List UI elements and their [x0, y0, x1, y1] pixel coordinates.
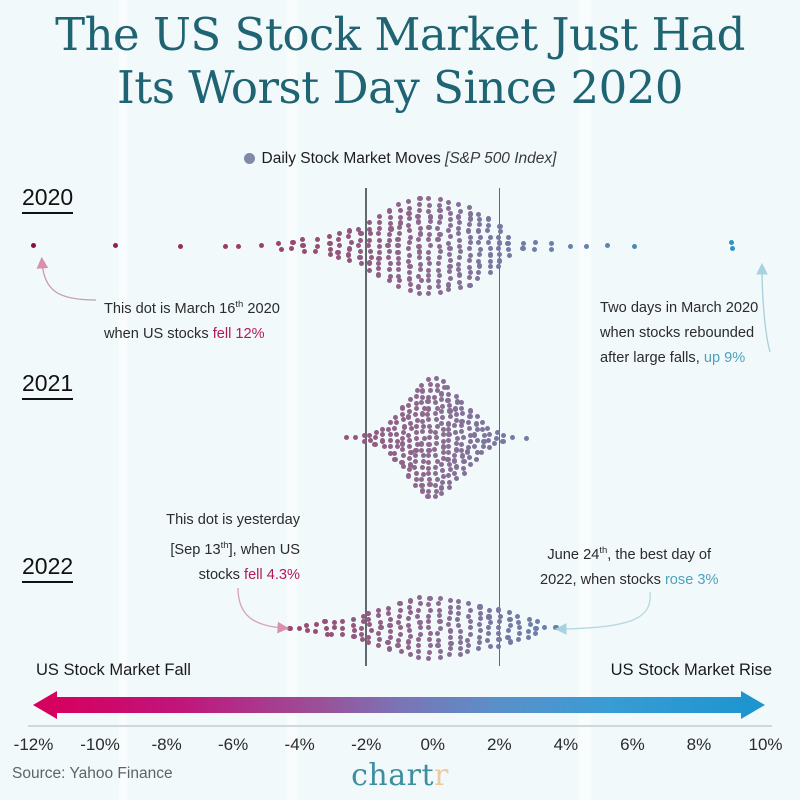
- data-point: [480, 420, 485, 425]
- data-point: [454, 441, 459, 446]
- data-point: [427, 477, 432, 482]
- title-line-2: Its Worst Day Since 2020: [0, 61, 800, 114]
- data-point: [467, 283, 472, 288]
- data-point: [407, 276, 412, 281]
- data-point: [315, 237, 320, 242]
- data-point: [407, 240, 412, 245]
- data-point: [385, 640, 390, 645]
- data-point: [426, 278, 431, 283]
- data-point: [437, 273, 442, 278]
- data-point: [553, 625, 558, 630]
- data-point: [458, 249, 463, 254]
- data-point: [415, 214, 420, 219]
- data-point: [533, 240, 538, 245]
- data-point: [459, 429, 464, 434]
- data-point: [407, 438, 412, 443]
- data-point: [428, 214, 433, 219]
- data-point: [448, 211, 453, 216]
- data-point: [417, 202, 422, 207]
- data-point: [414, 394, 419, 399]
- data-point: [446, 622, 451, 627]
- data-point: [408, 235, 413, 240]
- data-point: [409, 426, 414, 431]
- data-point: [376, 608, 381, 613]
- data-point: [223, 244, 228, 249]
- data-point: [351, 634, 356, 639]
- data-point: [455, 399, 460, 404]
- data-point: [426, 250, 431, 255]
- data-point: [447, 480, 452, 485]
- data-point: [428, 608, 433, 613]
- data-point: [413, 483, 418, 488]
- data-point: [416, 284, 421, 289]
- data-point: [376, 266, 381, 271]
- data-point: [467, 426, 472, 431]
- data-point: [447, 246, 452, 251]
- data-point: [437, 220, 442, 225]
- data-point: [408, 610, 413, 615]
- data-point: [438, 290, 443, 295]
- data-point: [406, 259, 411, 264]
- data-point: [478, 616, 483, 621]
- data-point: [454, 394, 459, 399]
- data-point: [388, 261, 393, 266]
- data-point: [468, 433, 473, 438]
- data-point: [433, 465, 438, 470]
- annotation-sep-13-2022: This dot is yesterday [Sep 13th], when U…: [152, 508, 300, 588]
- data-point: [426, 619, 431, 624]
- data-point: [313, 249, 318, 254]
- data-point: [480, 427, 485, 432]
- data-point: [337, 243, 342, 248]
- data-point: [426, 417, 431, 422]
- data-point: [452, 458, 457, 463]
- data-point: [446, 241, 451, 246]
- data-point: [448, 641, 453, 646]
- data-point: [327, 234, 332, 239]
- data-point: [314, 622, 319, 627]
- data-point: [352, 628, 357, 633]
- data-point: [437, 244, 442, 249]
- data-point: [439, 485, 444, 490]
- data-point: [441, 456, 446, 461]
- data-point: [401, 430, 406, 435]
- data-point: [397, 225, 402, 230]
- legend: Daily Stock Market Moves [S&P 500 Index]: [0, 150, 800, 168]
- data-point: [376, 643, 381, 648]
- data-point: [359, 632, 364, 637]
- arrow-head-right-icon: [741, 691, 765, 719]
- data-point: [487, 608, 492, 613]
- data-point: [426, 471, 431, 476]
- data-point: [356, 227, 361, 232]
- data-point: [397, 278, 402, 283]
- data-point: [445, 457, 450, 462]
- data-point: [439, 391, 444, 396]
- data-point: [506, 628, 511, 633]
- data-point: [359, 261, 364, 266]
- data-point: [533, 631, 538, 636]
- data-point: [448, 646, 453, 651]
- data-point: [398, 632, 403, 637]
- data-point: [397, 231, 402, 236]
- data-point: [414, 430, 419, 435]
- data-point: [436, 268, 441, 273]
- data-point: [324, 626, 329, 631]
- data-point: [406, 414, 411, 419]
- data-point: [388, 215, 393, 220]
- data-point: [395, 237, 400, 242]
- data-point: [367, 238, 372, 243]
- data-point: [398, 608, 403, 613]
- data-point: [459, 419, 464, 424]
- data-point: [486, 438, 491, 443]
- data-point: [468, 608, 473, 613]
- data-point: [392, 426, 397, 431]
- data-point: [478, 611, 483, 616]
- data-point: [476, 259, 481, 264]
- data-point: [417, 595, 422, 600]
- data-point: [416, 649, 421, 654]
- data-point: [437, 232, 442, 237]
- data-point: [447, 403, 452, 408]
- data-point: [441, 379, 446, 384]
- data-point: [388, 635, 393, 640]
- data-point: [313, 629, 318, 634]
- data-point: [458, 285, 463, 290]
- data-point: [236, 244, 241, 249]
- data-point: [414, 477, 419, 482]
- data-point: [380, 432, 385, 437]
- data-point: [481, 439, 486, 444]
- data-point: [477, 622, 482, 627]
- data-point: [433, 400, 438, 405]
- data-point: [388, 629, 393, 634]
- data-point: [481, 444, 486, 449]
- data-point: [457, 280, 462, 285]
- data-point: [441, 474, 446, 479]
- data-point: [356, 243, 361, 248]
- data-point: [351, 623, 356, 628]
- data-point: [475, 427, 480, 432]
- data-point: [459, 442, 464, 447]
- data-point: [394, 420, 399, 425]
- data-point: [425, 412, 430, 417]
- data-point: [467, 246, 472, 251]
- data-point: [439, 409, 444, 414]
- data-point: [521, 241, 526, 246]
- data-point: [406, 199, 411, 204]
- data-point: [462, 471, 467, 476]
- axis-tick-minus4: -4%: [285, 735, 315, 755]
- data-point: [477, 217, 482, 222]
- data-point: [419, 278, 424, 283]
- data-point: [401, 464, 406, 469]
- data-point: [448, 414, 453, 419]
- data-point: [300, 237, 305, 242]
- axis-tick-0: 0%: [420, 735, 445, 755]
- data-point: [426, 377, 431, 382]
- data-point: [397, 614, 402, 619]
- data-point: [413, 448, 418, 453]
- data-point: [455, 617, 460, 622]
- data-point: [441, 439, 446, 444]
- data-point: [400, 447, 405, 452]
- data-point: [305, 628, 310, 633]
- data-point: [346, 252, 351, 257]
- data-point: [459, 406, 464, 411]
- data-point: [420, 465, 425, 470]
- arrow-march16: [42, 262, 96, 300]
- data-point: [437, 608, 442, 613]
- data-point: [456, 623, 461, 628]
- data-point: [488, 644, 493, 649]
- data-point: [329, 632, 334, 637]
- logo-accent: r: [434, 758, 449, 793]
- data-point: [459, 400, 464, 405]
- data-point: [632, 244, 637, 249]
- data-point: [428, 219, 433, 224]
- data-point: [406, 246, 411, 251]
- data-point: [426, 196, 431, 201]
- data-point: [455, 436, 460, 441]
- data-point: [388, 420, 393, 425]
- data-point: [426, 237, 431, 242]
- data-point: [433, 453, 438, 458]
- data-point: [438, 626, 443, 631]
- data-point: [418, 262, 423, 267]
- data-point: [434, 417, 439, 422]
- data-point: [434, 376, 439, 381]
- data-point: [360, 637, 365, 642]
- data-point: [477, 263, 482, 268]
- data-point: [454, 464, 459, 469]
- data-point: [456, 267, 461, 272]
- data-point: [457, 244, 462, 249]
- data-point: [501, 433, 506, 438]
- data-point: [457, 220, 462, 225]
- data-point: [300, 243, 305, 248]
- data-point: [448, 605, 453, 610]
- data-point: [315, 244, 320, 249]
- data-point: [468, 235, 473, 240]
- data-point: [468, 619, 473, 624]
- data-point: [467, 455, 472, 460]
- data-point: [487, 432, 492, 437]
- data-point: [438, 249, 443, 254]
- data-point: [416, 637, 421, 642]
- data-point: [468, 439, 473, 444]
- data-point: [407, 206, 412, 211]
- data-point: [376, 613, 381, 618]
- data-point: [454, 412, 459, 417]
- gradient-bar: [55, 697, 743, 713]
- data-point: [367, 433, 372, 438]
- data-point: [448, 628, 453, 633]
- data-point: [426, 460, 431, 465]
- data-point: [408, 598, 413, 603]
- axis-tick-4: 4%: [554, 735, 579, 755]
- data-point: [549, 247, 554, 252]
- title-line-1: The US Stock Market Just Had: [55, 8, 745, 61]
- data-point: [395, 444, 400, 449]
- legend-index-label: [S&P 500 Index]: [445, 150, 556, 167]
- data-point: [400, 436, 405, 441]
- data-point: [417, 255, 422, 260]
- data-point: [407, 444, 412, 449]
- data-point: [388, 226, 393, 231]
- data-point: [340, 632, 345, 637]
- data-point: [374, 430, 379, 435]
- data-point: [458, 629, 463, 634]
- data-point: [532, 247, 537, 252]
- data-point: [414, 471, 419, 476]
- data-point: [386, 427, 391, 432]
- data-point: [468, 462, 473, 467]
- data-point: [435, 406, 440, 411]
- data-point: [439, 491, 444, 496]
- data-point: [426, 614, 431, 619]
- data-point: [468, 253, 473, 258]
- data-point: [460, 453, 465, 458]
- data-point: [349, 240, 354, 245]
- data-point: [402, 424, 407, 429]
- data-point: [459, 423, 464, 428]
- data-point: [446, 421, 451, 426]
- data-point: [418, 267, 423, 272]
- data-point: [526, 629, 531, 634]
- data-point: [465, 449, 470, 454]
- data-point: [407, 264, 412, 269]
- data-point: [420, 429, 425, 434]
- data-point: [340, 626, 345, 631]
- data-point: [406, 645, 411, 650]
- data-point: [397, 601, 402, 606]
- data-point: [359, 626, 364, 631]
- data-point: [421, 453, 426, 458]
- data-point: [441, 432, 446, 437]
- data-point: [467, 258, 472, 263]
- data-point: [322, 619, 327, 624]
- data-point: [535, 619, 540, 624]
- arrow-june24: [560, 592, 650, 629]
- logo-main: chart: [351, 758, 434, 793]
- data-point: [435, 477, 440, 482]
- data-point: [446, 282, 451, 287]
- data-point: [465, 638, 470, 643]
- data-point: [507, 610, 512, 615]
- data-point: [398, 215, 403, 220]
- data-point: [461, 459, 466, 464]
- data-point: [353, 435, 358, 440]
- data-point: [401, 417, 406, 422]
- data-point: [420, 388, 425, 393]
- data-point: [448, 234, 453, 239]
- data-point: [377, 226, 382, 231]
- data-point: [427, 424, 432, 429]
- data-point: [468, 240, 473, 245]
- data-point: [395, 243, 400, 248]
- data-point: [487, 445, 492, 450]
- data-point: [414, 401, 419, 406]
- data-point: [432, 395, 437, 400]
- data-point: [414, 424, 419, 429]
- data-point: [436, 279, 441, 284]
- data-point: [440, 404, 445, 409]
- data-point: [467, 275, 472, 280]
- data-point: [435, 459, 440, 464]
- data-point: [457, 255, 462, 260]
- data-point: [328, 247, 333, 252]
- data-point: [584, 244, 589, 249]
- data-point: [351, 617, 356, 622]
- data-point: [380, 438, 385, 443]
- data-point: [279, 247, 284, 252]
- data-point: [456, 599, 461, 604]
- data-point: [412, 465, 417, 470]
- data-point: [507, 253, 512, 258]
- data-point: [477, 222, 482, 227]
- data-point: [568, 244, 573, 249]
- data-point: [336, 237, 341, 242]
- data-point: [524, 436, 529, 441]
- data-point: [482, 433, 487, 438]
- data-point: [475, 450, 480, 455]
- data-point: [382, 444, 387, 449]
- data-point: [477, 635, 482, 640]
- data-point: [438, 596, 443, 601]
- data-point: [488, 264, 493, 269]
- data-point: [367, 622, 372, 627]
- data-point: [414, 436, 419, 441]
- data-point: [302, 249, 307, 254]
- data-point: [485, 228, 490, 233]
- data-point: [426, 625, 431, 630]
- infographic-root: The US Stock Market Just Had Its Worst D…: [0, 0, 800, 800]
- data-point: [416, 608, 421, 613]
- data-point: [520, 246, 525, 251]
- data-point: [387, 208, 392, 213]
- data-point: [376, 631, 381, 636]
- data-point: [435, 226, 440, 231]
- data-point: [486, 625, 491, 630]
- data-point: [435, 424, 440, 429]
- data-point: [426, 489, 431, 494]
- data-point: [474, 421, 479, 426]
- data-point: [387, 249, 392, 254]
- data-point: [335, 250, 340, 255]
- data-point: [447, 485, 452, 490]
- data-point: [413, 412, 418, 417]
- data-point: [376, 272, 381, 277]
- data-point: [435, 237, 440, 242]
- data-point: [446, 287, 451, 292]
- data-point: [447, 264, 452, 269]
- data-point: [406, 433, 411, 438]
- data-point: [426, 395, 431, 400]
- data-point: [421, 459, 426, 464]
- data-point: [394, 432, 399, 437]
- data-point: [439, 397, 444, 402]
- data-point: [478, 628, 483, 633]
- data-point: [332, 620, 337, 625]
- data-point: [399, 649, 404, 654]
- data-point: [478, 247, 483, 252]
- data-point: [407, 228, 412, 233]
- data-point: [468, 408, 473, 413]
- data-point: [447, 616, 452, 621]
- data-point: [178, 244, 183, 249]
